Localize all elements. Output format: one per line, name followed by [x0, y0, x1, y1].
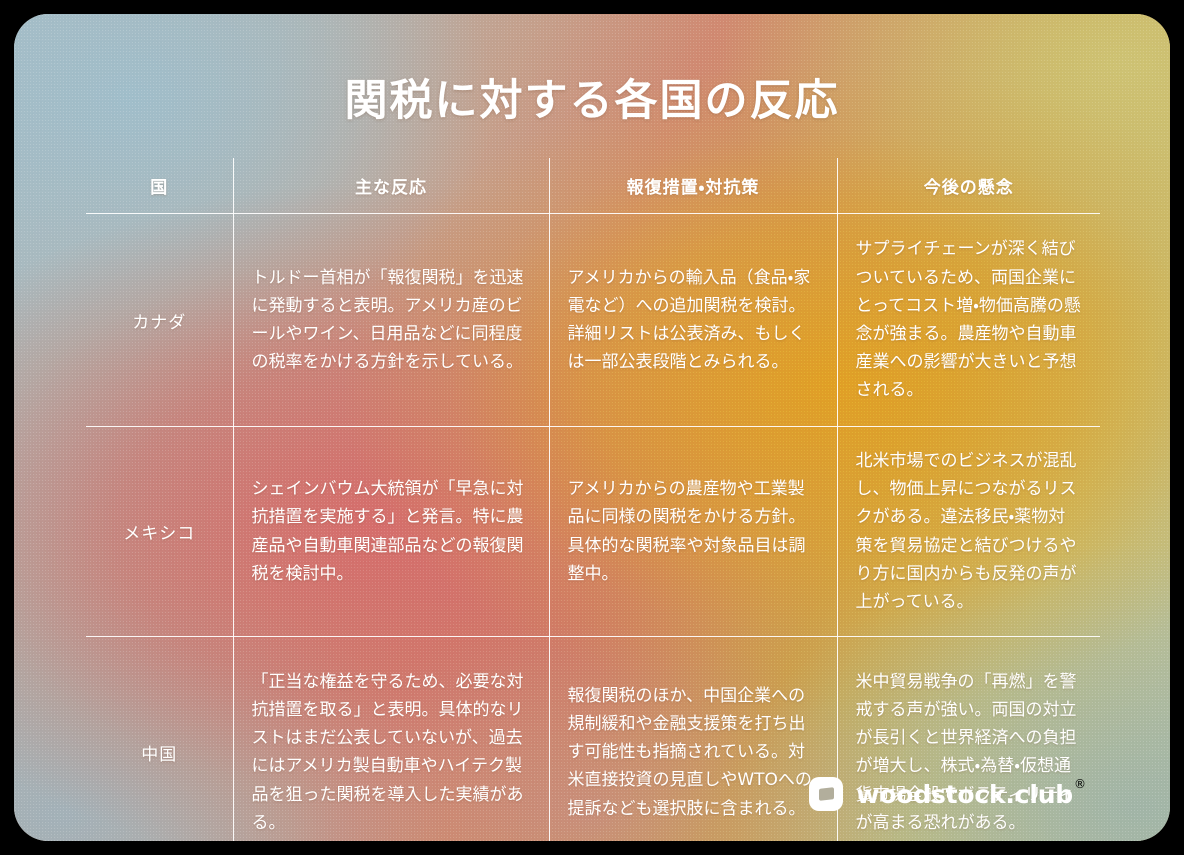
column-header-main-reaction: 主な反応 — [233, 157, 549, 214]
cell-main-reaction-canada: トルドー首相が「報復関税」を迅速に発動すると表明。アメリカ産のビールやワイン、日… — [233, 214, 549, 427]
table-row: カナダ トルドー首相が「報復関税」を迅速に発動すると表明。アメリカ産のビールやワ… — [85, 214, 1101, 427]
table-header: 国 主な反応 報復措置・対抗策 今後の懸念 — [85, 157, 1101, 214]
reactions-table: 国 主な反応 報復措置・対抗策 今後の懸念 カナダ トルドー首相が「報復関税」を… — [84, 156, 1102, 841]
registered-trademark-symbol: ® — [1074, 777, 1086, 791]
cell-country-canada: カナダ — [85, 214, 233, 427]
table-row: メキシコ シェインバウム大統領が「早急に対抗措置を実施する」と発言。特に農産品や… — [85, 427, 1101, 637]
cell-countermeasures-canada: アメリカからの輸入品（食品・家電など）への追加関税を検討。詳細リストは公表済み、… — [549, 214, 837, 427]
cell-concerns-canada: サプライチェーンが深く結びついているため、両国企業にとってコスト増・物価高騰の懸… — [837, 214, 1101, 427]
cell-countermeasures-china: 報復関税のほか、中国企業への規制緩和や金融支援策を打ち出す可能性も指摘されている… — [549, 637, 837, 841]
column-header-countermeasures: 報復措置・対抗策 — [549, 157, 837, 214]
column-header-country: 国 — [85, 157, 233, 214]
table-header-row: 国 主な反応 報復措置・対抗策 今後の懸念 — [85, 157, 1101, 214]
page-title: 関税に対する各国の反応 — [14, 66, 1170, 128]
woodstock-logo-icon — [809, 777, 843, 811]
brand-name: woodstock.club — [856, 780, 1073, 809]
cell-main-reaction-mexico: シェインバウム大統領が「早急に対抗措置を実施する」と発言。特に農産品や自動車関連… — [233, 427, 549, 637]
reactions-table-container: 国 主な反応 報復措置・対抗策 今後の懸念 カナダ トルドー首相が「報復関税」を… — [84, 156, 1100, 841]
logo-glyph-shape — [819, 787, 834, 801]
column-header-concerns: 今後の懸念 — [837, 157, 1101, 214]
poster-canvas: 関税に対する各国の反応 国 主な反応 報復措置・対抗策 今後の懸念 カナダ — [14, 14, 1170, 841]
table-body: カナダ トルドー首相が「報復関税」を迅速に発動すると表明。アメリカ産のビールやワ… — [85, 214, 1101, 842]
cell-main-reaction-china: 「正当な権益を守るため、必要な対抗措置を取る」と表明。具体的なリストはまだ公表し… — [233, 637, 549, 841]
cell-country-mexico: メキシコ — [85, 427, 233, 637]
brand-logo: woodstock.club ® — [809, 777, 1098, 811]
cell-concerns-mexico: 北米市場でのビジネスが混乱し、物価上昇につながるリスクがある。違法移民・薬物対策… — [837, 427, 1101, 637]
cell-countermeasures-mexico: アメリカからの農産物や工業製品に同様の関税をかける方針。具体的な関税率や対象品目… — [549, 427, 837, 637]
cell-country-china: 中国 — [85, 637, 233, 841]
